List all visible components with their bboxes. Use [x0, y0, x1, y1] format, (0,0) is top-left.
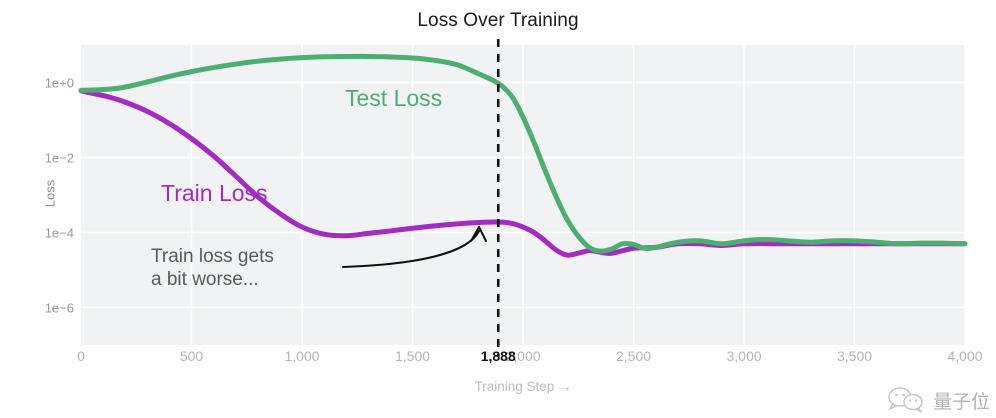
watermark: 量子位	[887, 386, 990, 414]
x-tick-label: 1,500	[395, 348, 430, 364]
x-tick-label: 4,000	[947, 348, 982, 364]
x-tick-label: 1,000	[284, 348, 319, 364]
annotation-text: Train loss gets a bit worse...	[151, 245, 274, 291]
chart-title: Loss Over Training	[0, 10, 996, 32]
y-tick-label: 1e−4	[45, 225, 74, 240]
series-label-train-loss: Train Loss	[161, 180, 268, 207]
x-tick-label: 2,500	[616, 348, 651, 364]
x-tick-label: 3,500	[837, 348, 872, 364]
x-tick-label: 0	[77, 348, 85, 364]
x-tick-label-highlight: 1,888	[481, 348, 516, 364]
watermark-text: 量子位	[933, 387, 990, 414]
series-label-test-loss: Test Loss	[345, 85, 442, 112]
wechat-icon	[887, 386, 927, 414]
chart-screenshot: Loss Over Training Loss 1e+01e−21e−41e−6…	[0, 0, 996, 418]
x-tick-label: 500	[180, 348, 203, 364]
plot-area: Loss 1e+01e−21e−41e−6 05001,0001,5002,00…	[81, 45, 965, 345]
x-axis-label: Training Step →	[81, 379, 965, 394]
y-tick-label: 1e+0	[45, 75, 74, 90]
y-tick-label: 1e−6	[45, 300, 74, 315]
x-tick-label: 3,000	[726, 348, 761, 364]
y-tick-label: 1e−2	[45, 150, 74, 165]
